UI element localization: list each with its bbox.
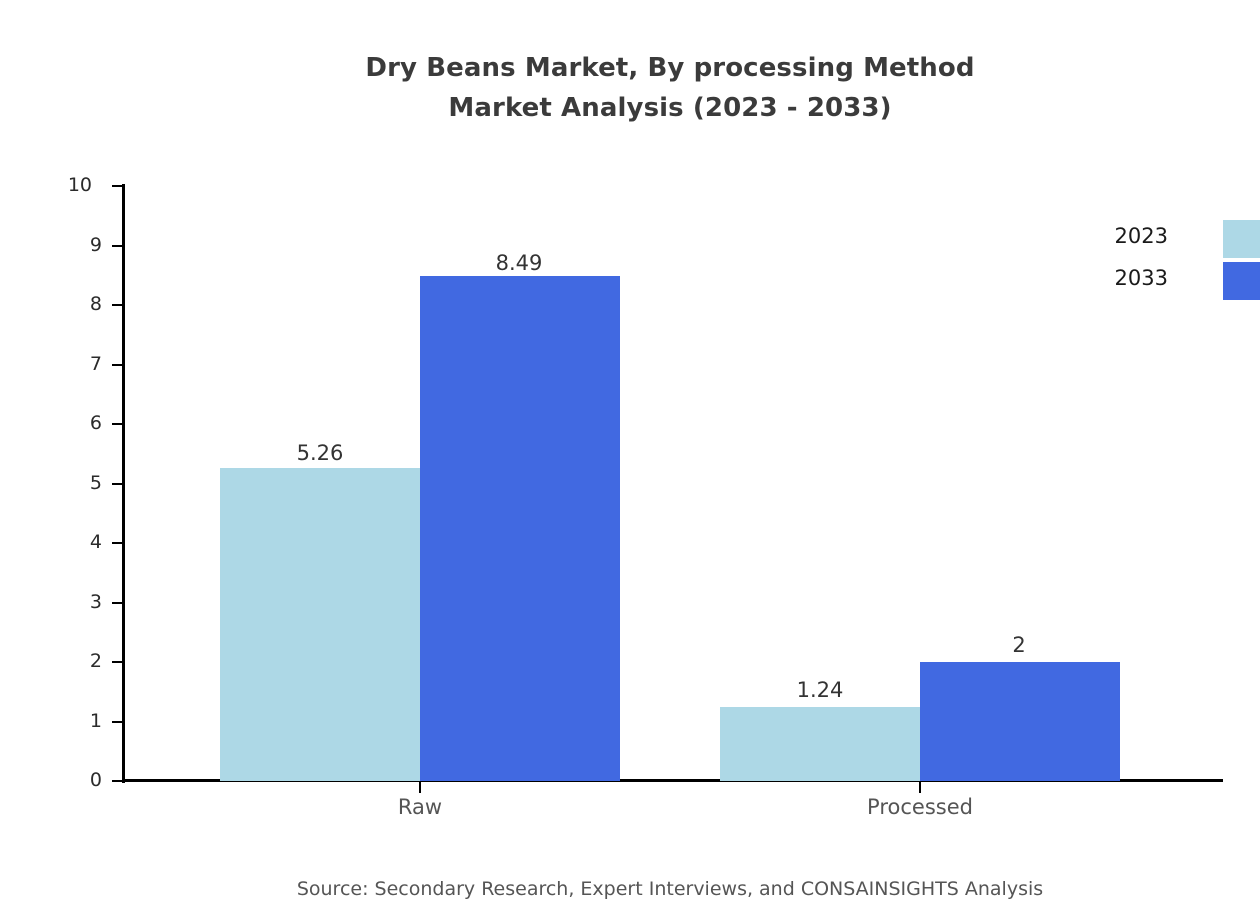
y-tick-label-2: 2 — [62, 652, 102, 671]
y-tick-mark-1 — [112, 721, 122, 723]
y-tick-mark-4 — [112, 542, 122, 544]
chart-title-line-2: Market Analysis (2023 - 2033) — [0, 88, 1260, 128]
bar-value-label-raw-2033: 8.49 — [496, 251, 543, 275]
y-tick-mark-7 — [112, 364, 122, 366]
bar-value-label-processed-2033: 2 — [1012, 633, 1025, 657]
y-tick-label-3: 3 — [62, 593, 102, 612]
legend-item-2023[interactable]: 2023 — [1130, 218, 1260, 260]
y-tick-label-4: 4 — [62, 533, 102, 552]
bar-raw-2023[interactable] — [220, 468, 420, 781]
chart-legend: 2023 2033 — [1130, 218, 1260, 302]
chart-figure: Dry Beans Market, By processing Method M… — [0, 0, 1260, 920]
y-tick-mark-10 — [112, 185, 122, 187]
bar-processed-2033[interactable] — [920, 662, 1120, 781]
y-tick-mark-9 — [112, 245, 122, 247]
y-tick-label-10: 10 — [52, 176, 92, 195]
y-tick-label-9: 9 — [62, 236, 102, 255]
x-tick-mark-raw — [419, 782, 421, 793]
x-tick-label-raw: Raw — [398, 795, 442, 819]
y-tick-label-8: 8 — [62, 295, 102, 314]
y-axis-spine — [122, 184, 125, 783]
source-note: Source: Secondary Research, Expert Inter… — [0, 878, 1260, 900]
y-tick-mark-2 — [112, 661, 122, 663]
y-tick-mark-6 — [112, 423, 122, 425]
y-tick-mark-3 — [112, 602, 122, 604]
bar-value-label-processed-2023: 1.24 — [797, 678, 844, 702]
legend-swatch-2033 — [1223, 262, 1260, 300]
bar-raw-2033[interactable] — [420, 276, 620, 781]
legend-label-2023: 2023 — [1115, 224, 1168, 248]
bar-processed-2023[interactable] — [720, 707, 920, 781]
legend-swatch-2023 — [1223, 220, 1260, 258]
bar-value-label-raw-2023: 5.26 — [297, 441, 344, 465]
y-tick-mark-0 — [112, 780, 122, 782]
legend-label-2033: 2033 — [1115, 266, 1168, 290]
y-tick-label-7: 7 — [62, 355, 102, 374]
y-tick-label-5: 5 — [62, 474, 102, 493]
legend-item-2033[interactable]: 2033 — [1130, 260, 1260, 302]
y-tick-label-0: 0 — [62, 771, 102, 790]
x-tick-mark-processed — [919, 782, 921, 793]
y-tick-label-6: 6 — [62, 414, 102, 433]
x-tick-label-processed: Processed — [867, 795, 973, 819]
y-tick-mark-8 — [112, 304, 122, 306]
y-tick-label-1: 1 — [62, 712, 102, 731]
chart-title: Dry Beans Market, By processing Method M… — [0, 48, 1260, 128]
chart-title-line-1: Dry Beans Market, By processing Method — [0, 48, 1260, 88]
y-tick-mark-5 — [112, 483, 122, 485]
